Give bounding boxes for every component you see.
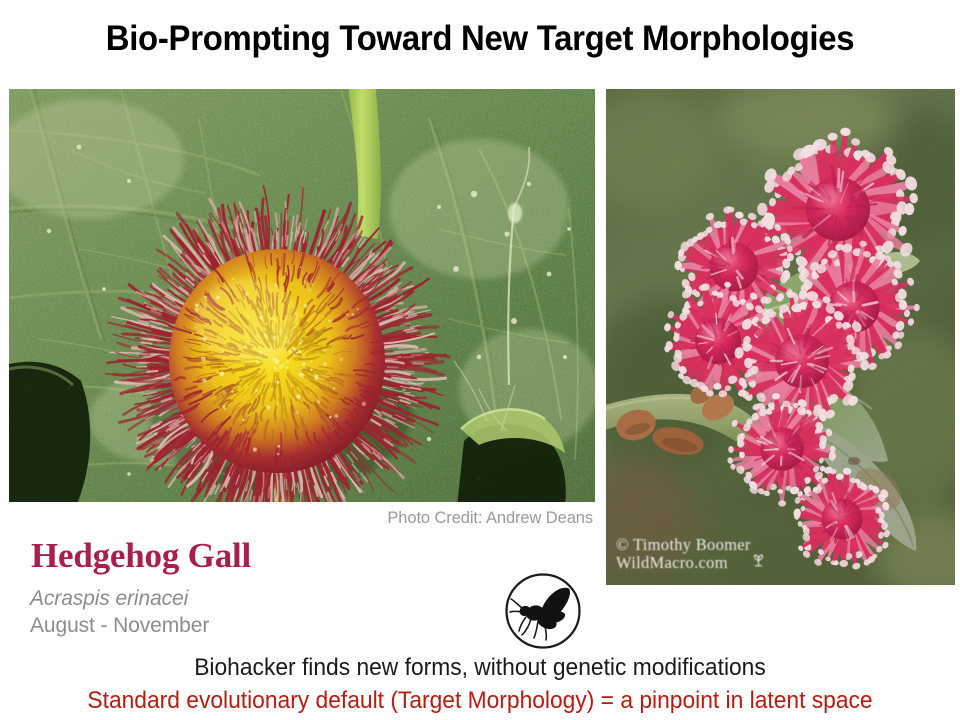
species-common-name: Hedgehog Gall [31, 535, 251, 577]
pink-galls-illustration: © Timothy Boomer WildMacro.com [606, 89, 955, 585]
svg-text:WildMacro.com: WildMacro.com [616, 553, 728, 572]
slide-root: Bio-Prompting Toward New Target Morpholo… [0, 0, 960, 720]
species-scientific-name: Acraspis erinacei [30, 586, 188, 612]
gall-wasp-icon [502, 570, 584, 652]
page-title: Bio-Prompting Toward New Target Morpholo… [29, 18, 931, 60]
hedgehog-gall-photo [9, 89, 595, 502]
species-season: August - November [30, 613, 209, 639]
svg-text:© Timothy Boomer: © Timothy Boomer [616, 535, 751, 554]
hedgehog-gall-illustration [9, 89, 595, 502]
photo-credit: Photo Credit: Andrew Deans [355, 508, 593, 528]
caption-secondary: Standard evolutionary default (Target Mo… [24, 686, 936, 715]
pink-galls-photo: © Timothy Boomer WildMacro.com [606, 89, 955, 585]
caption-primary: Biohacker finds new forms, without genet… [24, 653, 936, 682]
gall-wasp-emblem [502, 570, 584, 652]
